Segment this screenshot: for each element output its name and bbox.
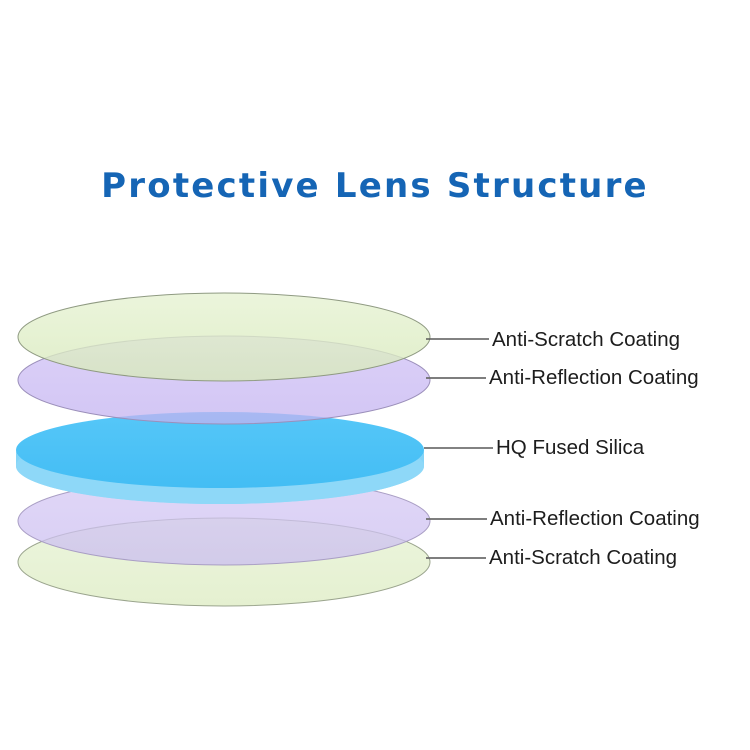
layer-label-lower-anti-reflection[interactable]: Anti-Reflection Coating (490, 509, 700, 530)
layer-label-bottom-anti-scratch[interactable]: Anti-Scratch Coating (489, 548, 677, 569)
layer-label-top-anti-scratch[interactable]: Anti-Scratch Coating (492, 330, 680, 351)
layer-label-upper-anti-reflection[interactable]: Anti-Reflection Coating (489, 368, 699, 389)
leader-lines (424, 339, 493, 558)
layer-top-anti-scratch[interactable] (18, 293, 430, 381)
layer-core-fused-silica[interactable] (16, 412, 424, 504)
ellipse-top-anti-scratch (18, 293, 430, 381)
page-root: Protective Lens Structure (0, 0, 750, 750)
layer-label-core-fused-silica[interactable]: HQ Fused Silica (496, 438, 644, 459)
